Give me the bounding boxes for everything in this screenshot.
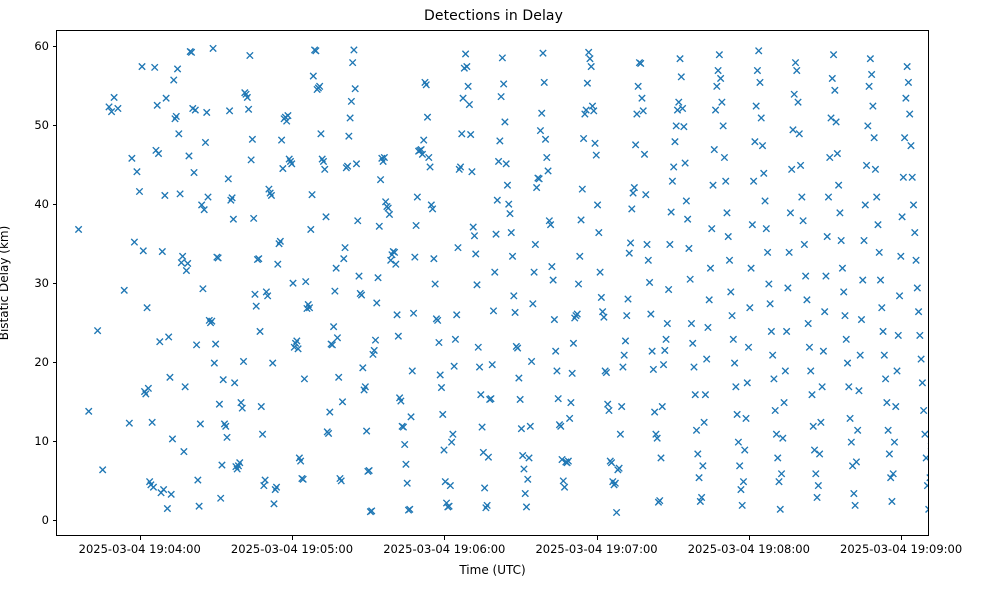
x-tick-mark xyxy=(292,536,293,540)
scatter-points-layer xyxy=(57,31,929,536)
figure-canvas: Detections in Delay 2025-03-04 19:04:002… xyxy=(0,0,987,590)
x-tick-mark xyxy=(749,536,750,540)
y-tick-label: 20 xyxy=(34,355,49,369)
chart-title: Detections in Delay xyxy=(0,8,987,24)
x-tick-label: 2025-03-04 19:06:00 xyxy=(383,542,505,556)
y-tick-label: 10 xyxy=(34,434,49,448)
x-tick-label: 2025-03-04 19:05:00 xyxy=(231,542,353,556)
x-tick-mark xyxy=(444,536,445,540)
x-tick-label: 2025-03-04 19:07:00 xyxy=(535,542,657,556)
y-tick-label: 50 xyxy=(34,118,49,132)
y-tick-mark xyxy=(53,520,57,521)
x-tick-mark xyxy=(597,536,598,540)
y-tick-label: 60 xyxy=(34,39,49,53)
x-tick-label: 2025-03-04 19:09:00 xyxy=(840,542,962,556)
y-tick-mark xyxy=(53,46,57,47)
y-axis-label: Bistatic Delay (km) xyxy=(0,226,11,341)
y-tick-mark xyxy=(53,204,57,205)
y-tick-mark xyxy=(53,362,57,363)
x-tick-label: 2025-03-04 19:08:00 xyxy=(688,542,810,556)
scatter-marker-group xyxy=(75,45,929,516)
y-tick-mark xyxy=(53,441,57,442)
y-tick-label: 30 xyxy=(34,276,49,290)
x-tick-label: 2025-03-04 19:04:00 xyxy=(79,542,201,556)
x-tick-mark xyxy=(901,536,902,540)
y-tick-mark xyxy=(53,283,57,284)
plot-area[interactable] xyxy=(56,30,929,536)
y-tick-label: 40 xyxy=(34,197,49,211)
y-tick-label: 0 xyxy=(42,513,49,527)
y-tick-mark xyxy=(53,125,57,126)
x-tick-mark xyxy=(140,536,141,540)
x-axis-label: Time (UTC) xyxy=(56,563,929,577)
